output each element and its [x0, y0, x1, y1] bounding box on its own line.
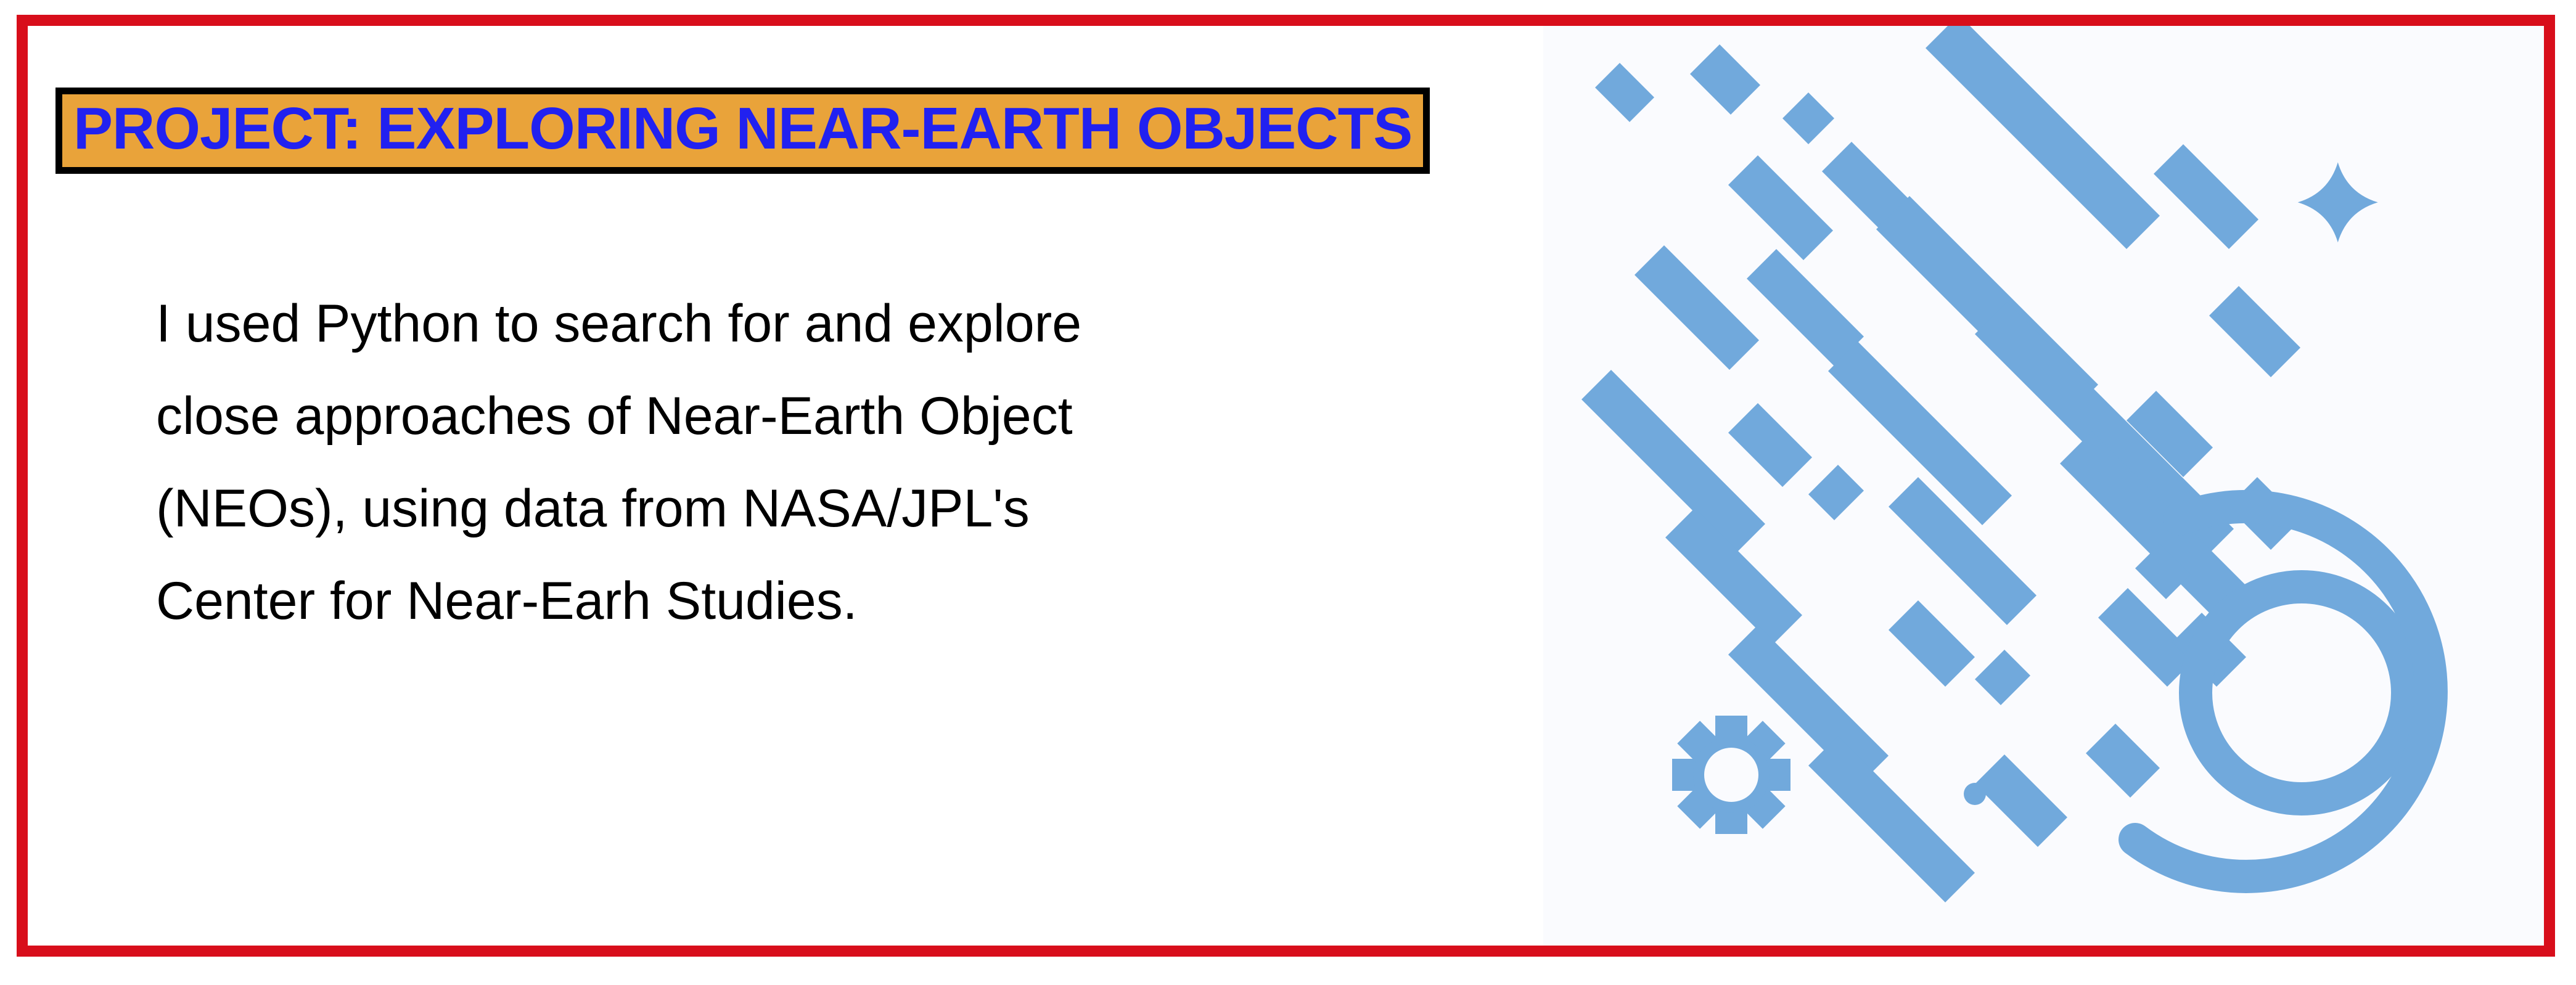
comet-illustration-panel: [1543, 26, 2544, 946]
comet-head-circle: [2196, 587, 2408, 799]
four-point-star-icon: [2298, 162, 2378, 242]
comet-illustration-svg: [1543, 26, 2544, 946]
body-line-1: I used Python to search for and explore: [156, 277, 1488, 370]
body-line-3: (NEOs), using data from NASA/JPL's: [156, 462, 1488, 555]
page-title-banner: PROJECT: EXPLORING NEAR-EARTH OBJECTS: [55, 88, 1430, 174]
gear-star-burst-icon: [1672, 716, 1790, 834]
body-paragraph: I used Python to search for and explore …: [156, 277, 1488, 647]
page-title: PROJECT: EXPLORING NEAR-EARTH OBJECTS: [73, 99, 1412, 158]
slide-content: PROJECT: EXPLORING NEAR-EARTH OBJECTS I …: [28, 26, 2544, 946]
body-line-4: Center for Near-Earh Studies.: [156, 555, 1488, 647]
slide-frame: PROJECT: EXPLORING NEAR-EARTH OBJECTS I …: [17, 15, 2555, 957]
body-line-2: close approaches of Near-Earth Object: [156, 370, 1488, 462]
small-dot-icon: [1964, 783, 1986, 805]
